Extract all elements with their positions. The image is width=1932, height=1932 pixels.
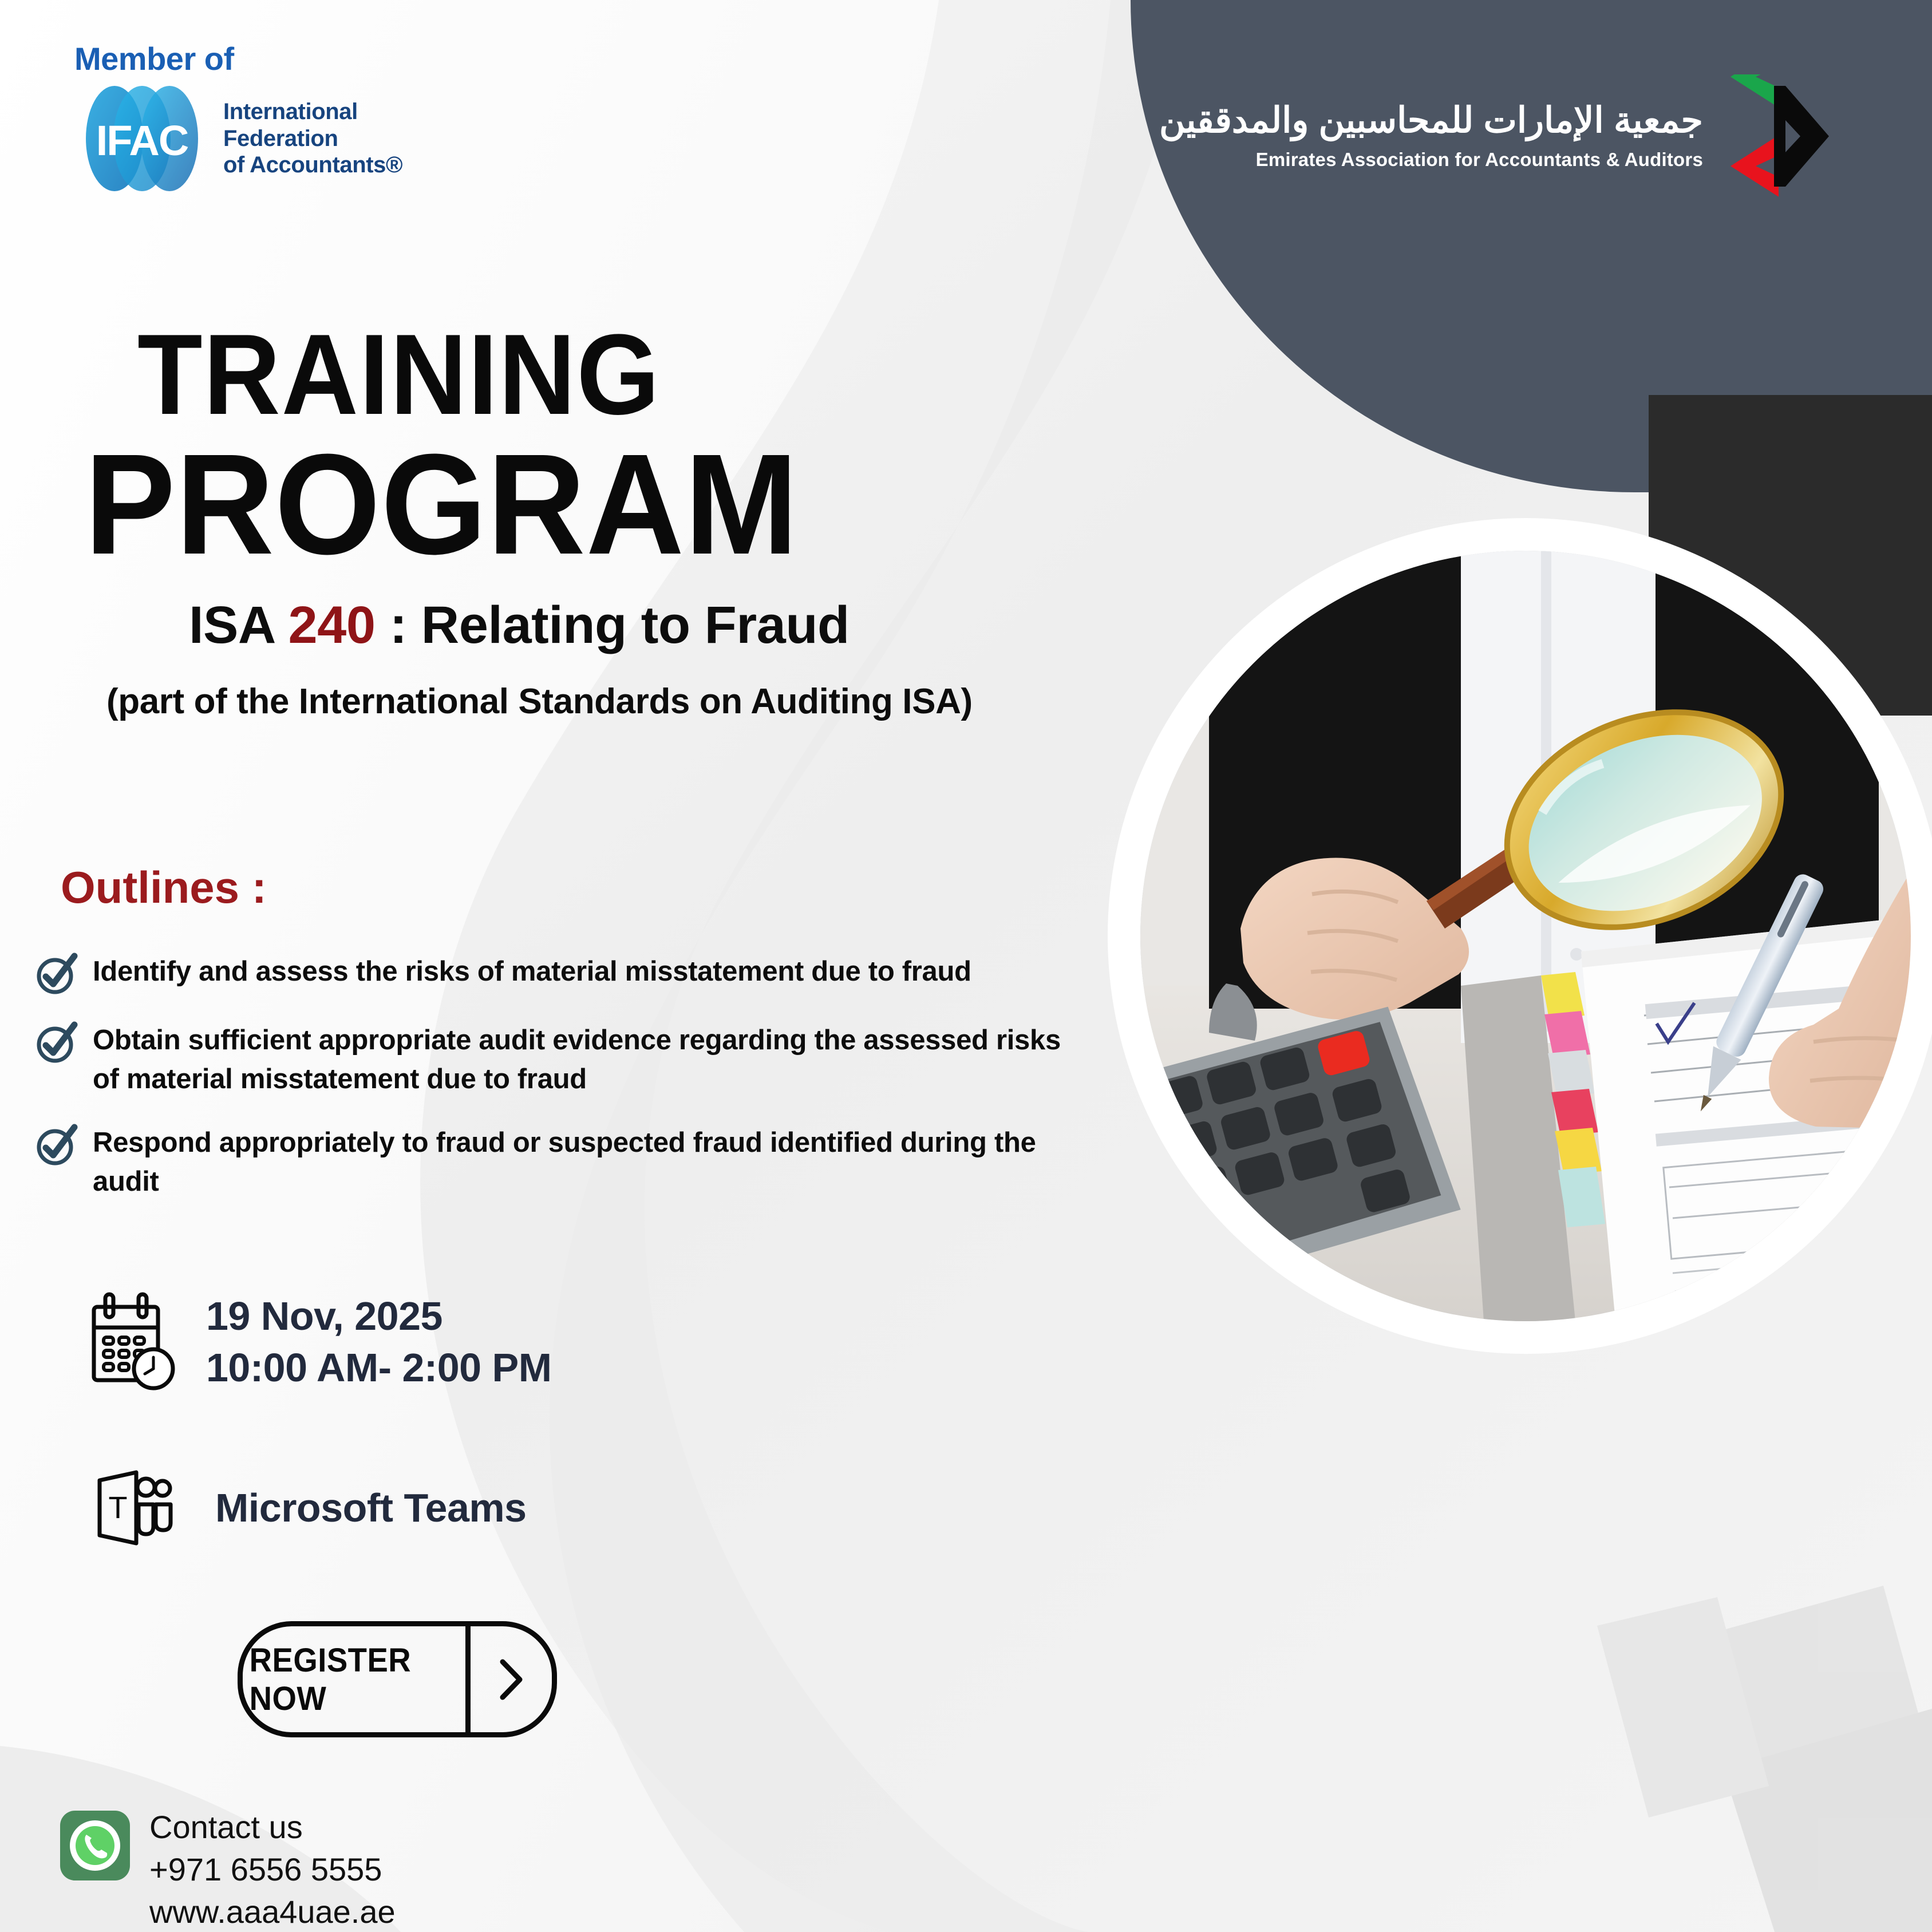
eaaa-logo: جمعية الإمارات للمحاسبين والمدققين Emira… — [1159, 74, 1840, 197]
date-time-text: 19 Nov, 2025 10:00 AM- 2:00 PM — [206, 1291, 552, 1393]
check-circle-icon — [34, 1124, 78, 1167]
event-date: 19 Nov, 2025 — [206, 1291, 552, 1342]
microsoft-teams-icon: T — [92, 1465, 177, 1550]
outline-text: Identify and assess the risks of materia… — [93, 950, 971, 991]
check-circle-icon — [34, 953, 78, 996]
course-subtitle: ISA 240 : Relating to Fraud — [189, 595, 850, 655]
outline-text: Respond appropriately to fraud or suspec… — [93, 1121, 1082, 1201]
eaaa-english-name: Emirates Association for Accountants & A… — [1159, 149, 1703, 171]
platform-row: T Microsoft Teams — [92, 1465, 527, 1550]
subtitle-suffix: : Relating to Fraud — [376, 596, 850, 654]
calendar-clock-icon — [86, 1291, 177, 1394]
chevron-right-icon[interactable] — [471, 1626, 552, 1732]
outlines-list: Identify and assess the risks of materia… — [34, 950, 1082, 1224]
ifac-member-logo: Member of IFAC — [74, 40, 402, 193]
course-subtitle-note: (part of the International Standards on … — [106, 681, 973, 722]
contact-website[interactable]: www.aaa4uae.ae — [149, 1891, 396, 1932]
title-line-program: PROGRAM — [85, 436, 799, 572]
outlines-heading: Outlines : — [61, 862, 267, 914]
ifac-name-line2: Federation — [223, 125, 402, 152]
ifac-name: International Federation of Accountants® — [223, 98, 402, 178]
ifac-member-label: Member of — [74, 40, 402, 77]
register-divider — [465, 1626, 471, 1732]
contact-block: Contact us +971 6556 5555 www.aaa4uae.ae — [60, 1806, 396, 1932]
auditor-photo-illustration — [1140, 551, 1911, 1321]
contact-phone[interactable]: +971 6556 5555 — [149, 1848, 396, 1891]
list-item: Obtain sufficient appropriate audit evid… — [34, 1019, 1082, 1099]
title-line-training: TRAINING — [137, 321, 787, 429]
list-item: Identify and assess the risks of materia… — [34, 950, 1082, 996]
register-now-button[interactable]: REGISTER NOW — [238, 1621, 557, 1737]
contact-label: Contact us — [149, 1806, 396, 1848]
register-button-label: REGISTER NOW — [250, 1626, 459, 1732]
subtitle-number: 240 — [289, 596, 376, 654]
whatsapp-icon[interactable] — [60, 1811, 130, 1880]
outline-text: Obtain sufficient appropriate audit evid… — [93, 1019, 1082, 1099]
list-item: Respond appropriately to fraud or suspec… — [34, 1121, 1082, 1201]
platform-name: Microsoft Teams — [215, 1485, 527, 1531]
date-time-row: 19 Nov, 2025 10:00 AM- 2:00 PM — [86, 1291, 552, 1394]
eaaa-arabic-name: جمعية الإمارات للمحاسبين والمدققين — [1159, 101, 1703, 140]
page-title: TRAINING PROGRAM — [137, 321, 836, 572]
subtitle-prefix: ISA — [189, 596, 289, 654]
svg-text:T: T — [109, 1491, 128, 1525]
event-time: 10:00 AM- 2:00 PM — [206, 1342, 552, 1394]
ifac-name-line1: International — [223, 98, 402, 125]
check-circle-icon — [34, 1021, 78, 1065]
eaaa-chevron-logo — [1726, 74, 1840, 197]
svg-text:IFAC: IFAC — [96, 117, 188, 164]
ifac-name-line3: of Accountants® — [223, 152, 402, 178]
hero-photo — [1140, 551, 1911, 1321]
training-program-poster: Member of IFAC — [0, 0, 1932, 1932]
eaaa-text: جمعية الإمارات للمحاسبين والمدققين Emira… — [1159, 101, 1703, 170]
ifac-petals-logo: IFAC — [74, 84, 210, 193]
contact-lines: Contact us +971 6556 5555 www.aaa4uae.ae — [149, 1806, 396, 1932]
